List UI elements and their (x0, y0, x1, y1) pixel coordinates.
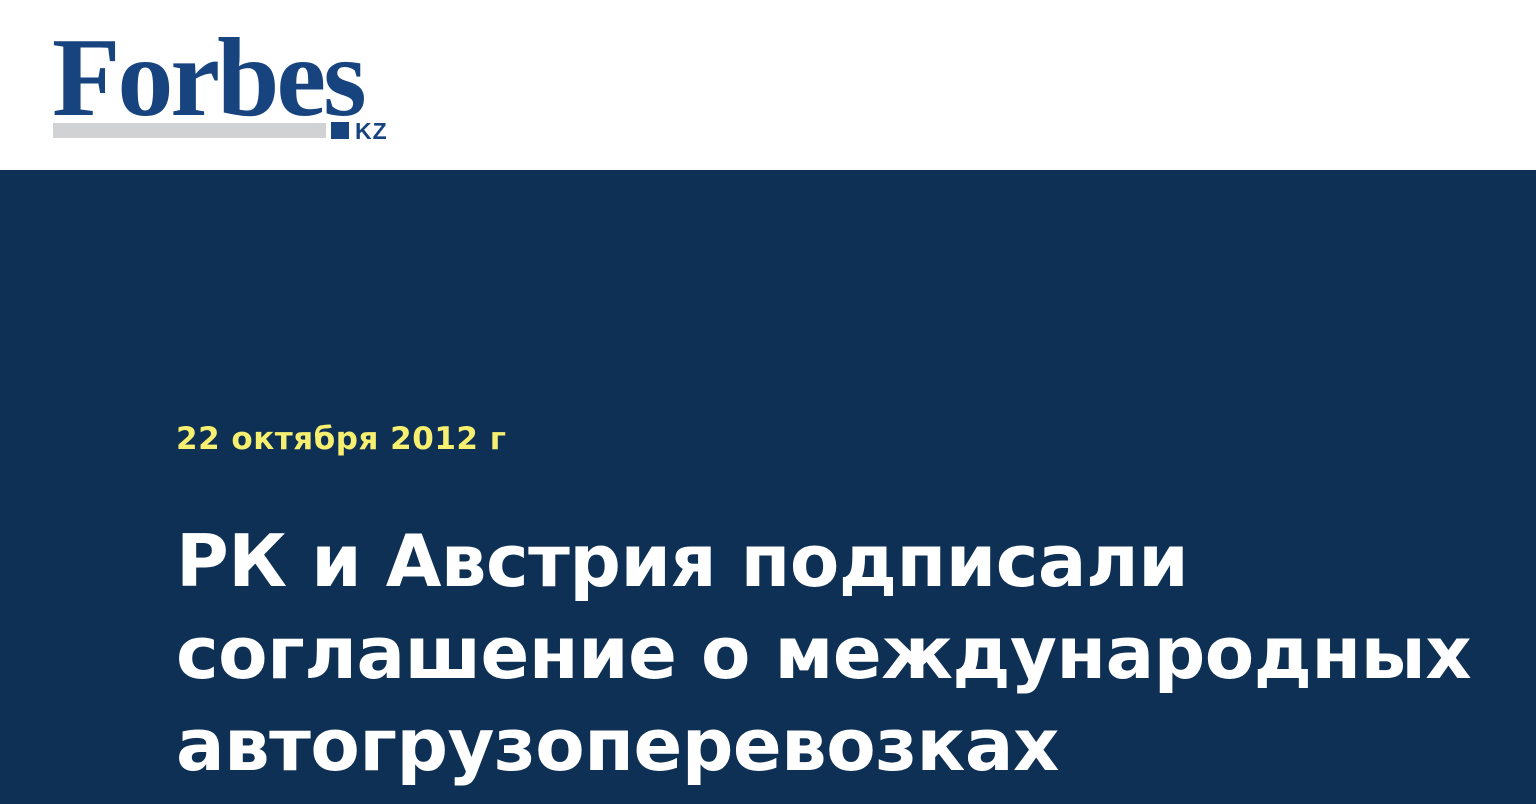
article-hero: 22 октября 2012 г РК и Австрия подписали… (0, 170, 1536, 804)
article-title-line: соглашение о международных (176, 607, 1376, 699)
article-hero-page: Forbes KZ 22 октября 2012 г РК и Австрия… (0, 0, 1536, 804)
article-date: 22 октября 2012 г (176, 422, 506, 456)
logo-kz-square-icon (331, 122, 349, 139)
article-title: РК и Австрия подписали соглашение о межд… (176, 515, 1376, 791)
site-header: Forbes KZ (0, 0, 1536, 170)
article-title-line: автогрузоперевозках (176, 699, 1376, 791)
logo-underline-bar (53, 123, 326, 138)
article-title-line: РК и Австрия подписали (176, 515, 1376, 607)
logo-kz-suffix: KZ (355, 120, 388, 143)
forbes-kz-logo[interactable]: Forbes KZ (52, 22, 412, 142)
forbes-wordmark: Forbes (52, 22, 364, 134)
